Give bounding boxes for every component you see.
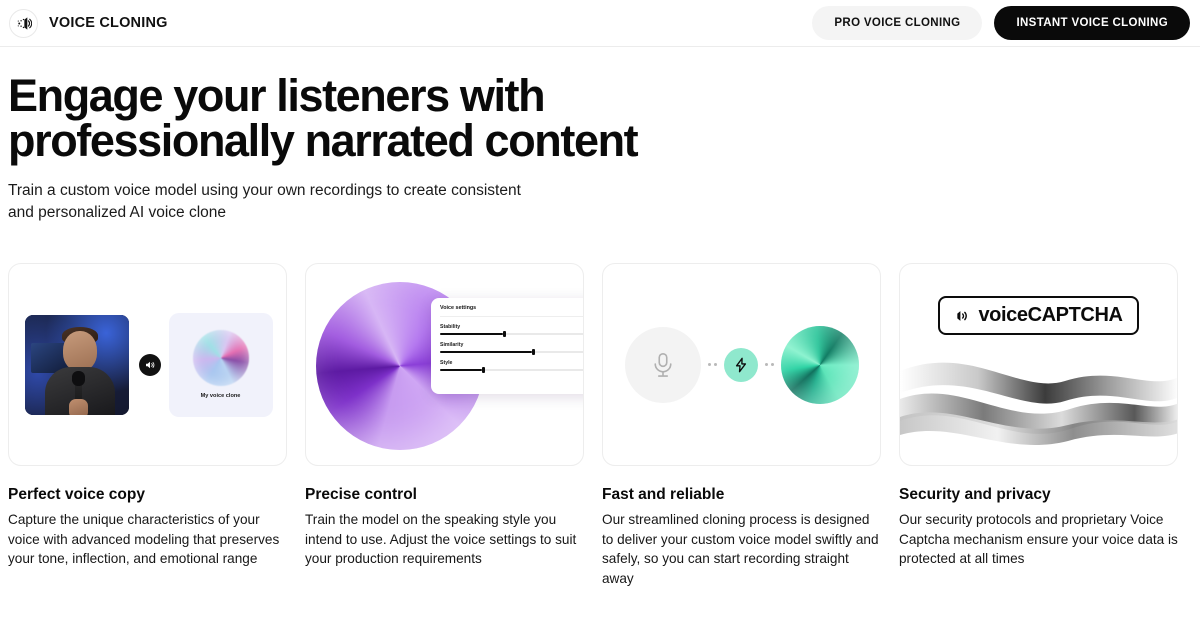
- feature-card-security-and-privacy[interactable]: voiceCAPTCHA: [899, 263, 1178, 589]
- card-visual-voice-captcha: voiceCAPTCHA: [899, 263, 1178, 466]
- slider-knob: [532, 349, 535, 355]
- slider-label: Style: [440, 360, 584, 366]
- card-visual-photo-to-clone: My voice clone: [8, 263, 287, 466]
- voice-clone-preview: My voice clone: [169, 313, 273, 417]
- page-title: Engage your listeners with professionall…: [8, 73, 648, 163]
- app-header: VOICE CLONING PRO VOICE CLONING INSTANT …: [0, 0, 1200, 47]
- voice-clone-label: My voice clone: [201, 393, 241, 399]
- photo-person-hand: [69, 399, 88, 417]
- page-title-line-2: professionally narrated content: [8, 115, 637, 166]
- slider-fill: [440, 369, 482, 371]
- feature-cards: My voice clone Perfect voice copy Captur…: [0, 263, 1200, 589]
- lightning-bolt-icon: [724, 348, 758, 382]
- slider-stability[interactable]: Stability: [440, 324, 584, 335]
- voice-captcha-badge: voiceCAPTCHA: [938, 296, 1138, 335]
- instant-voice-cloning-button[interactable]: INSTANT VOICE CLONING: [994, 6, 1190, 40]
- slider-knob: [482, 367, 485, 373]
- hero-section: Engage your listeners with professionall…: [0, 47, 1200, 224]
- card-title: Security and privacy: [899, 486, 1178, 504]
- card-description: Our security protocols and proprietary V…: [899, 510, 1178, 569]
- slider-label: Stability: [440, 324, 584, 330]
- slider-track[interactable]: [440, 351, 584, 353]
- slider-track[interactable]: [440, 369, 584, 371]
- card-description: Capture the unique characteristics of yo…: [8, 510, 287, 569]
- header-actions: PRO VOICE CLONING INSTANT VOICE CLONING: [812, 6, 1190, 40]
- sound-wave-ribbons: [900, 337, 1178, 457]
- card-description: Train the model on the speaking style yo…: [305, 510, 584, 569]
- card-visual-voice-settings: Voice settings Stability Similarity: [305, 263, 584, 466]
- slider-knob: [503, 331, 506, 337]
- voice-wave-circle-icon: [9, 9, 38, 38]
- photo-mic-head: [72, 371, 85, 386]
- connector-dots-left: [708, 363, 717, 366]
- feature-card-perfect-voice-copy[interactable]: My voice clone Perfect voice copy Captur…: [8, 263, 287, 589]
- slider-fill: [440, 351, 532, 353]
- slider-track[interactable]: [440, 333, 584, 335]
- slider-label: Similarity: [440, 342, 584, 348]
- brand: VOICE CLONING: [9, 9, 168, 38]
- photo-person-head: [63, 331, 97, 371]
- green-voice-orb-icon: [781, 326, 859, 404]
- feature-card-fast-and-reliable[interactable]: Fast and reliable Our streamlined clonin…: [602, 263, 881, 589]
- page-subtitle-line-2: and personalized AI voice clone: [8, 204, 226, 221]
- voice-settings-panel: Voice settings Stability Similarity: [431, 298, 584, 394]
- speaker-wave-icon: [139, 354, 161, 376]
- pro-voice-cloning-button[interactable]: PRO VOICE CLONING: [812, 6, 982, 40]
- microphone-icon: [625, 327, 701, 403]
- card-title: Precise control: [305, 486, 584, 504]
- voice-settings-title: Voice settings: [440, 305, 584, 317]
- slider-fill: [440, 333, 503, 335]
- slider-similarity[interactable]: Similarity: [440, 342, 584, 353]
- slider-style[interactable]: Style: [440, 360, 584, 371]
- card-description: Our streamlined cloning process is desig…: [602, 510, 881, 589]
- page-subtitle-line-1: Train a custom voice model using your ow…: [8, 182, 521, 199]
- feature-card-precise-control[interactable]: Voice settings Stability Similarity: [305, 263, 584, 589]
- page-subtitle: Train a custom voice model using your ow…: [8, 180, 588, 224]
- sound-wave-icon: [954, 308, 970, 324]
- brand-name: VOICE CLONING: [49, 15, 168, 31]
- card-title: Fast and reliable: [602, 486, 881, 504]
- card-visual-mic-to-orb: [602, 263, 881, 466]
- connector-dots-right: [765, 363, 774, 366]
- voice-clone-orb-icon: [193, 330, 249, 386]
- speaker-photo: [23, 313, 131, 417]
- card-title: Perfect voice copy: [8, 486, 287, 504]
- voice-captcha-label: voiceCAPTCHA: [978, 304, 1122, 327]
- page-title-line-1: Engage your listeners with: [8, 70, 544, 121]
